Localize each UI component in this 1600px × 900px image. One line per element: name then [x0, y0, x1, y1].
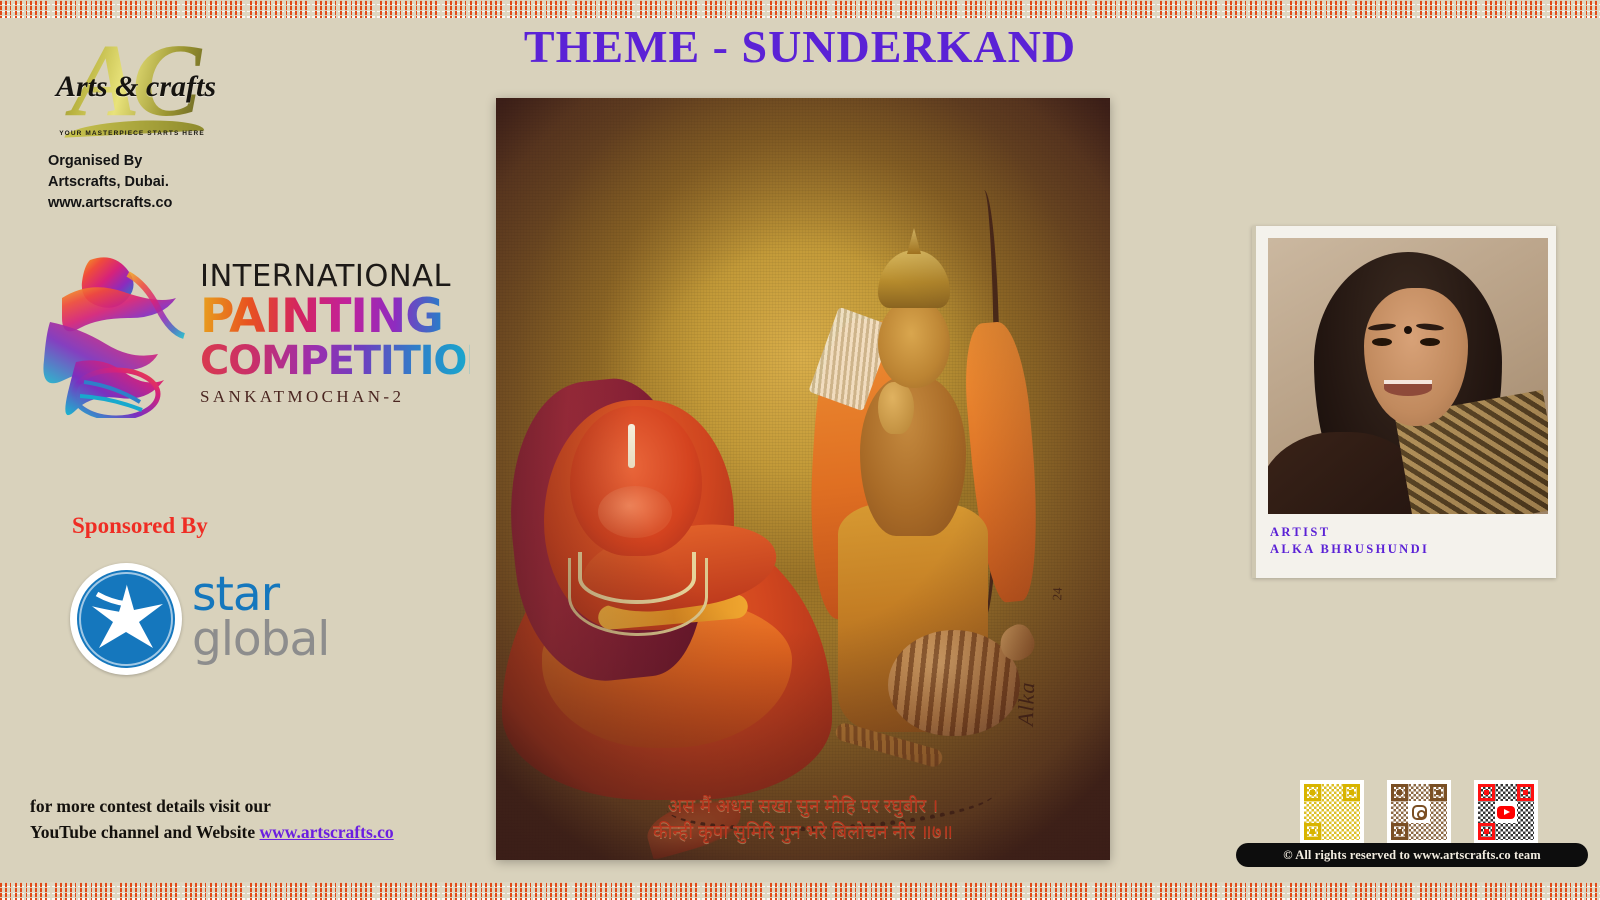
border-weave-pattern: [0, 0, 1600, 18]
sponsor-logo: star global: [70, 563, 370, 678]
sponsor-name-star: star: [192, 573, 329, 617]
qr-finder-top-right: [1430, 784, 1447, 801]
competition-logo-text: INTERNATIONAL PAINTING COMPETITION SANKA…: [200, 260, 470, 407]
contest-details-note: for more contest details visit our YouTu…: [30, 793, 470, 845]
logo-script-text: Arts & crafts: [50, 70, 222, 104]
artist-smile: [1384, 380, 1432, 396]
artist-eye-right: [1420, 338, 1440, 346]
organiser-website: www.artscrafts.co: [48, 193, 348, 214]
border-weave-pattern: [0, 882, 1600, 900]
artist-card[interactable]: ARTIST ALKA BHRUSHUNDI: [1252, 226, 1556, 578]
qr-finder-bottom-left: [1391, 823, 1408, 840]
artist-bindi: [1404, 326, 1412, 334]
top-decorative-border: [0, 0, 1600, 18]
competition-line-painting: PAINTING: [200, 295, 470, 340]
artwork-vignette: [496, 98, 1110, 860]
star-global-badge-icon: [70, 563, 182, 675]
organised-by-label: Organised By: [48, 151, 348, 172]
qr-finder-bottom-left: [1304, 823, 1321, 840]
sponsor-wordmark: star global: [192, 573, 329, 663]
bottom-decorative-border: [0, 882, 1600, 900]
instagram-icon: [1408, 801, 1430, 823]
contest-note-line2: YouTube channel and Website: [30, 822, 255, 842]
artist-caption: ARTIST ALKA BHRUSHUNDI: [1270, 524, 1429, 558]
artist-photo: [1268, 238, 1548, 514]
verse-line-1: अस मैं अधम सखा सुन मोहि पर रघुबीर ।: [496, 794, 1110, 820]
copyright-bar: © All rights reserved to www.artscrafts.…: [1236, 843, 1588, 867]
artwork-image: 24 Alka अस मैं अधम सखा सुन मोहि पर रघुबी…: [496, 98, 1110, 860]
website-qr-code[interactable]: [1300, 780, 1364, 844]
youtube-icon: [1495, 801, 1517, 823]
page-title: THEME - SUNDERKAND: [400, 20, 1200, 73]
competition-line-competition: COMPETITION: [200, 342, 470, 380]
artscrafts-logo: AC Arts & crafts YOUR MASTERPIECE STARTS…: [42, 26, 222, 144]
artist-role-label: ARTIST: [1270, 524, 1429, 541]
youtube-qr-code[interactable]: [1474, 780, 1538, 844]
website-link[interactable]: www.artscrafts.co: [260, 822, 394, 842]
qr-finder-top-left: [1478, 784, 1495, 801]
verse-line-2: कीन्ही कृपा सुमिरि गुन भरे बिलोचन नीर ॥७…: [496, 820, 1110, 846]
competition-logo: INTERNATIONAL PAINTING COMPETITION SANKA…: [20, 240, 470, 422]
organiser-name: Artscrafts, Dubai.: [48, 172, 348, 193]
qr-finder-bottom-left: [1478, 823, 1495, 840]
qr-code-row: [1300, 780, 1538, 844]
artist-eye-left: [1372, 338, 1392, 346]
organised-by-block: Organised By Artscrafts, Dubai. www.arts…: [48, 151, 348, 214]
artwork-verse: अस मैं अधम सखा सुन मोहि पर रघुबीर । कीन्…: [496, 794, 1110, 846]
sponsored-by-label: Sponsored By: [72, 513, 208, 539]
artist-name: ALKA BHRUSHUNDI: [1270, 541, 1429, 558]
qr-finder-top-left: [1391, 784, 1408, 801]
instagram-qr-code[interactable]: [1387, 780, 1451, 844]
left-sidebar: AC Arts & crafts YOUR MASTERPIECE STARTS…: [0, 18, 480, 882]
contest-note-line1: for more contest details visit our: [30, 793, 470, 819]
paint-splash-figure-icon: [32, 250, 192, 418]
qr-finder-top-right: [1343, 784, 1360, 801]
sponsor-name-global: global: [192, 617, 329, 663]
logo-tagline: YOUR MASTERPIECE STARTS HERE: [42, 130, 222, 137]
artwork-panel[interactable]: 24 Alka अस मैं अधम सखा सुन मोहि पर रघुबी…: [496, 98, 1110, 860]
qr-finder-top-right: [1517, 784, 1534, 801]
competition-subtitle: SANKATMOCHAN-2: [200, 387, 470, 407]
qr-finder-top-left: [1304, 784, 1321, 801]
